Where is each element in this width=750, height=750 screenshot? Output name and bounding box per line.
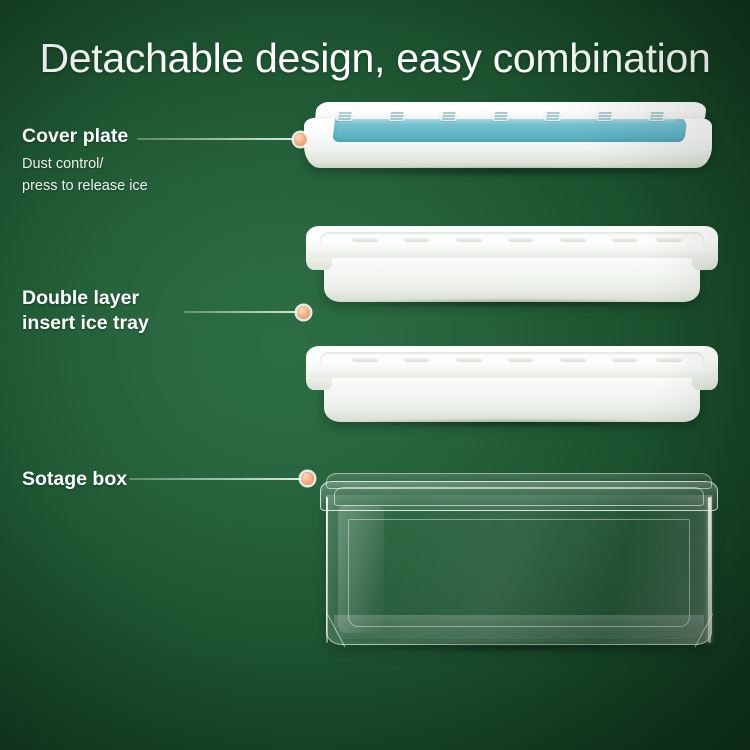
cover-plate-shadow	[326, 166, 696, 177]
storage-box-shadow	[360, 641, 680, 653]
cover-plate-image	[296, 96, 720, 178]
storage-box-floor	[334, 615, 704, 639]
annotation-cover-plate-title: Cover plate	[22, 124, 148, 149]
page-title: Detachable design, easy combination	[0, 36, 750, 81]
annotation-cover-plate-sub-1: Dust control/	[22, 154, 148, 175]
tray-cavity-ridge	[456, 236, 482, 242]
connector-dot-ice-tray	[297, 306, 310, 319]
connector-line-storage-box	[129, 478, 304, 480]
tray-cavity-ridge	[656, 356, 682, 362]
storage-box-inner-face	[348, 519, 690, 627]
tray-cavity-ridge	[352, 236, 378, 242]
tray-rim	[306, 226, 718, 258]
tray-cavity-ridge	[352, 356, 378, 362]
press-bump	[439, 109, 459, 121]
annotation-ice-tray: Double layer insert ice tray	[22, 286, 149, 336]
tray-shadow	[346, 418, 676, 428]
tray-cavity-ridge	[508, 356, 534, 362]
tray-cavity-ridge	[612, 236, 638, 242]
tray-shadow	[346, 298, 676, 308]
press-bump	[491, 109, 511, 121]
storage-box-image	[312, 465, 726, 655]
product-infographic: Detachable design, easy combination	[0, 0, 750, 750]
storage-box-gloss	[338, 505, 384, 633]
press-bump	[595, 109, 615, 121]
tray-cavity-ridge	[560, 236, 586, 242]
press-bump	[387, 109, 407, 121]
connector-dot-cover-plate	[294, 133, 307, 146]
connector-line-cover-plate	[137, 138, 297, 140]
annotation-storage-box: Sotage box	[22, 467, 127, 492]
tray-cavity-ridge	[612, 356, 638, 362]
press-bump	[543, 109, 563, 121]
storage-box-edge-right	[708, 497, 711, 643]
connector-line-ice-tray	[184, 311, 300, 313]
annotation-ice-tray-title-line-2: insert ice tray	[22, 311, 149, 336]
press-bump	[647, 109, 667, 121]
press-bump	[335, 109, 355, 121]
ice-tray-upper-image	[306, 222, 718, 308]
storage-box-rim-inner	[334, 487, 704, 506]
tray-rim	[306, 346, 718, 378]
tray-cavity-ridge	[508, 236, 534, 242]
annotation-cover-plate: Cover plate Dust control/ press to relea…	[22, 124, 148, 196]
tray-cavity-ridge	[456, 356, 482, 362]
cover-plate-lip	[315, 102, 707, 119]
tray-cavity-ridge	[404, 356, 430, 362]
annotation-storage-box-title: Sotage box	[22, 467, 127, 492]
connector-dot-storage-box	[301, 472, 314, 485]
tray-cavity-ridge	[656, 236, 682, 242]
annotation-ice-tray-title-line-1: Double layer	[22, 286, 149, 311]
ice-tray-lower-image	[306, 342, 718, 428]
annotation-cover-plate-sub-2: press to release ice	[22, 176, 148, 197]
tray-cavity-ridge	[404, 236, 430, 242]
tray-cavity-ridge	[560, 356, 586, 362]
